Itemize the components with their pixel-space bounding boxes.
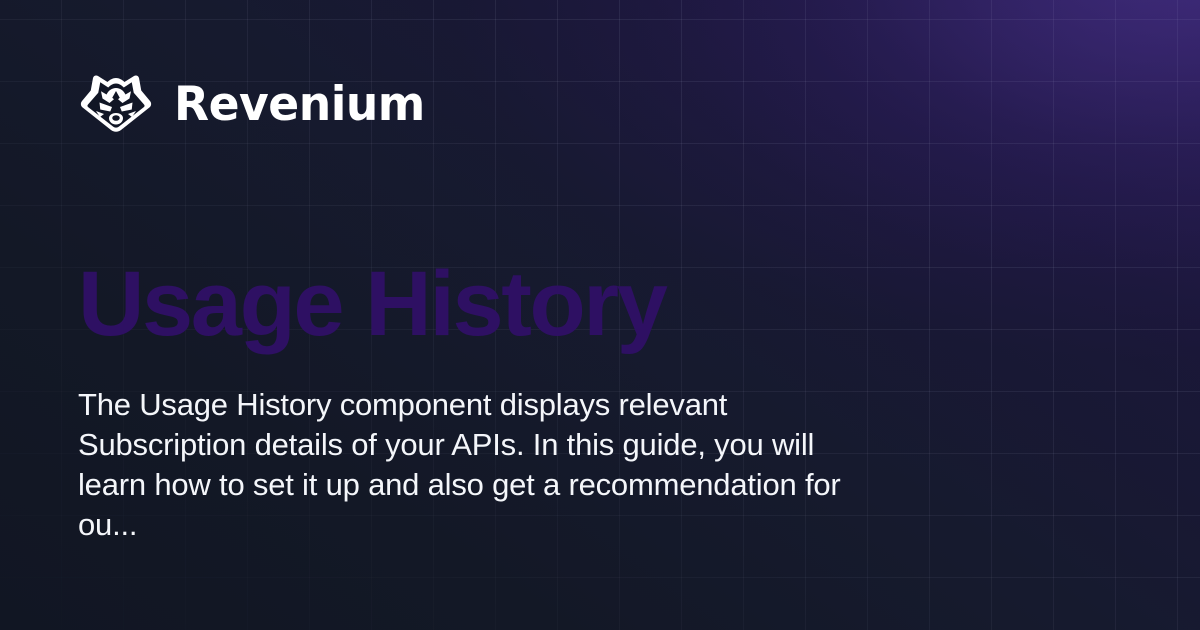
- brand-lockup[interactable]: Revenium: [78, 74, 433, 134]
- page-description: The Usage History component displays rel…: [78, 385, 878, 545]
- page-title: Usage History: [78, 258, 665, 350]
- og-card: Revenium Usage History The Usage History…: [0, 0, 1200, 630]
- raccoon-head-icon: [78, 74, 154, 134]
- brand-name: Revenium: [174, 81, 425, 128]
